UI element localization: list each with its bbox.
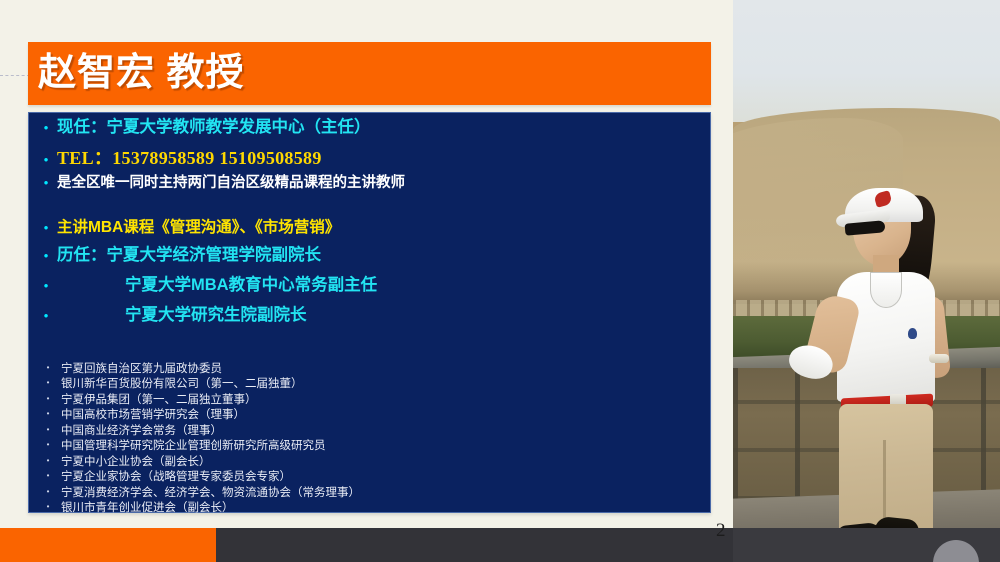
list-item-label: 宁夏消费经济学会、经济学会、物资流通协会（常务理事） xyxy=(61,484,360,500)
bullet-icon: • xyxy=(35,121,57,134)
list-item-label: 宁夏企业家协会（战略管理专家委员会专家） xyxy=(61,468,291,484)
list-item: • 历任：宁夏大学经济管理学院副院长 xyxy=(35,247,705,277)
bullet-icon: • xyxy=(35,221,57,234)
bullet-icon: • xyxy=(35,503,61,511)
bullet-icon: • xyxy=(35,309,57,322)
portrait-photo xyxy=(733,0,1000,546)
bullet-icon: • xyxy=(35,176,57,189)
list-item: • 中国管理科学研究院企业管理创新研究所高级研究员 xyxy=(35,438,705,454)
bullet-icon: • xyxy=(35,426,61,434)
list-item-label: 中国高校市场营销学研究会（理事） xyxy=(61,406,245,422)
bullet-icon: • xyxy=(35,153,57,166)
photo-figure-collar xyxy=(870,272,902,308)
list-item-label: 银川新华百货股份有限公司（第一、二届独董） xyxy=(61,375,303,391)
list-item: • 中国高校市场营销学研究会（理事） xyxy=(35,407,705,423)
bullet-icon: • xyxy=(35,379,61,387)
list-item: • 宁夏大学研究生院副院长 xyxy=(35,307,705,337)
list-item-label: 银川市青年创业促进会（副会长） xyxy=(61,499,234,515)
list-item: • 主讲MBA课程《管理沟通》、《市场营销》 xyxy=(35,220,705,247)
list-item: • 中国商业经济学会常务（理事） xyxy=(35,422,705,438)
list-item-label: 宁夏大学MBA教育中心常务副主任 xyxy=(57,277,705,294)
list-item-label: TEL：15378958589 15109508589 xyxy=(57,149,705,167)
list-item: • 现任：宁夏大学教师教学发展中心（主任） xyxy=(35,119,705,149)
list-item: • 银川新华百货股份有限公司（第一、二届独董） xyxy=(35,376,705,392)
bullet-icon: • xyxy=(35,279,57,292)
bullet-icon: • xyxy=(35,395,61,403)
slide-canvas: 赵智宏 教授 • 现任：宁夏大学教师教学发展中心（主任） • TEL：15378… xyxy=(0,0,1000,562)
list-item: • 宁夏大学MBA教育中心常务副主任 xyxy=(35,277,705,307)
bullet-icon: • xyxy=(35,472,61,480)
list-item: • 宁夏企业家协会（战略管理专家委员会专家） xyxy=(35,469,705,485)
list-item: • 银川市青年创业促进会（副会长） xyxy=(35,500,705,516)
list-item: • 是全区唯一同时主持两门自治区级精品课程的主讲教师 xyxy=(35,176,705,200)
list-item: • 宁夏中小企业协会（副会长） xyxy=(35,453,705,469)
list-item: • 宁夏回族自治区第九届政协委员 xyxy=(35,360,705,376)
bullet-icon: • xyxy=(35,457,61,465)
content-panel: • 现任：宁夏大学教师教学发展中心（主任） • TEL：15378958589 … xyxy=(28,112,711,513)
list-item: • 宁夏伊品集团（第一、二届独立董事） xyxy=(35,391,705,407)
list-item-label: 主讲MBA课程《管理沟通》、《市场营销》 xyxy=(57,220,705,236)
photo-figure-bracelet xyxy=(929,354,949,363)
bullet-icon: • xyxy=(35,410,61,418)
list-item-label: 现任：宁夏大学教师教学发展中心（主任） xyxy=(57,119,705,136)
bullet-icon: • xyxy=(35,441,61,449)
guide-line xyxy=(0,75,30,76)
page-title: 赵智宏 教授 xyxy=(38,44,245,102)
list-item: • TEL：15378958589 15109508589 xyxy=(35,149,705,176)
photo-figure-shirt-logo xyxy=(908,328,917,339)
list-item-label: 中国商业经济学会常务（理事） xyxy=(61,422,222,438)
list-item-label: 宁夏回族自治区第九届政协委员 xyxy=(61,360,222,376)
spacer xyxy=(35,200,705,220)
list-item-label: 历任：宁夏大学经济管理学院副院长 xyxy=(57,247,705,264)
bullet-icon: • xyxy=(35,249,57,262)
bullet-icon: • xyxy=(35,364,61,372)
title-bar: 赵智宏 教授 xyxy=(28,42,711,105)
photo-sky xyxy=(733,0,1000,122)
list-item-label: 宁夏大学研究生院副院长 xyxy=(57,307,705,324)
list-item-label: 宁夏伊品集团（第一、二届独立董事） xyxy=(61,391,257,407)
list-item-label: 是全区唯一同时主持两门自治区级精品课程的主讲教师 xyxy=(57,176,705,191)
list-item: • 宁夏消费经济学会、经济学会、物资流通协会（常务理事） xyxy=(35,484,705,500)
minor-bullet-list: • 宁夏回族自治区第九届政协委员 • 银川新华百货股份有限公司（第一、二届独董）… xyxy=(35,360,705,515)
footer-accent-bar xyxy=(0,528,216,562)
list-item-label: 宁夏中小企业协会（副会长） xyxy=(61,453,211,469)
list-item-label: 中国管理科学研究院企业管理创新研究所高级研究员 xyxy=(61,437,326,453)
page-number: 2 xyxy=(716,520,726,542)
bullet-icon: • xyxy=(35,488,61,496)
major-bullet-list: • 现任：宁夏大学教师教学发展中心（主任） • TEL：15378958589 … xyxy=(35,119,705,337)
